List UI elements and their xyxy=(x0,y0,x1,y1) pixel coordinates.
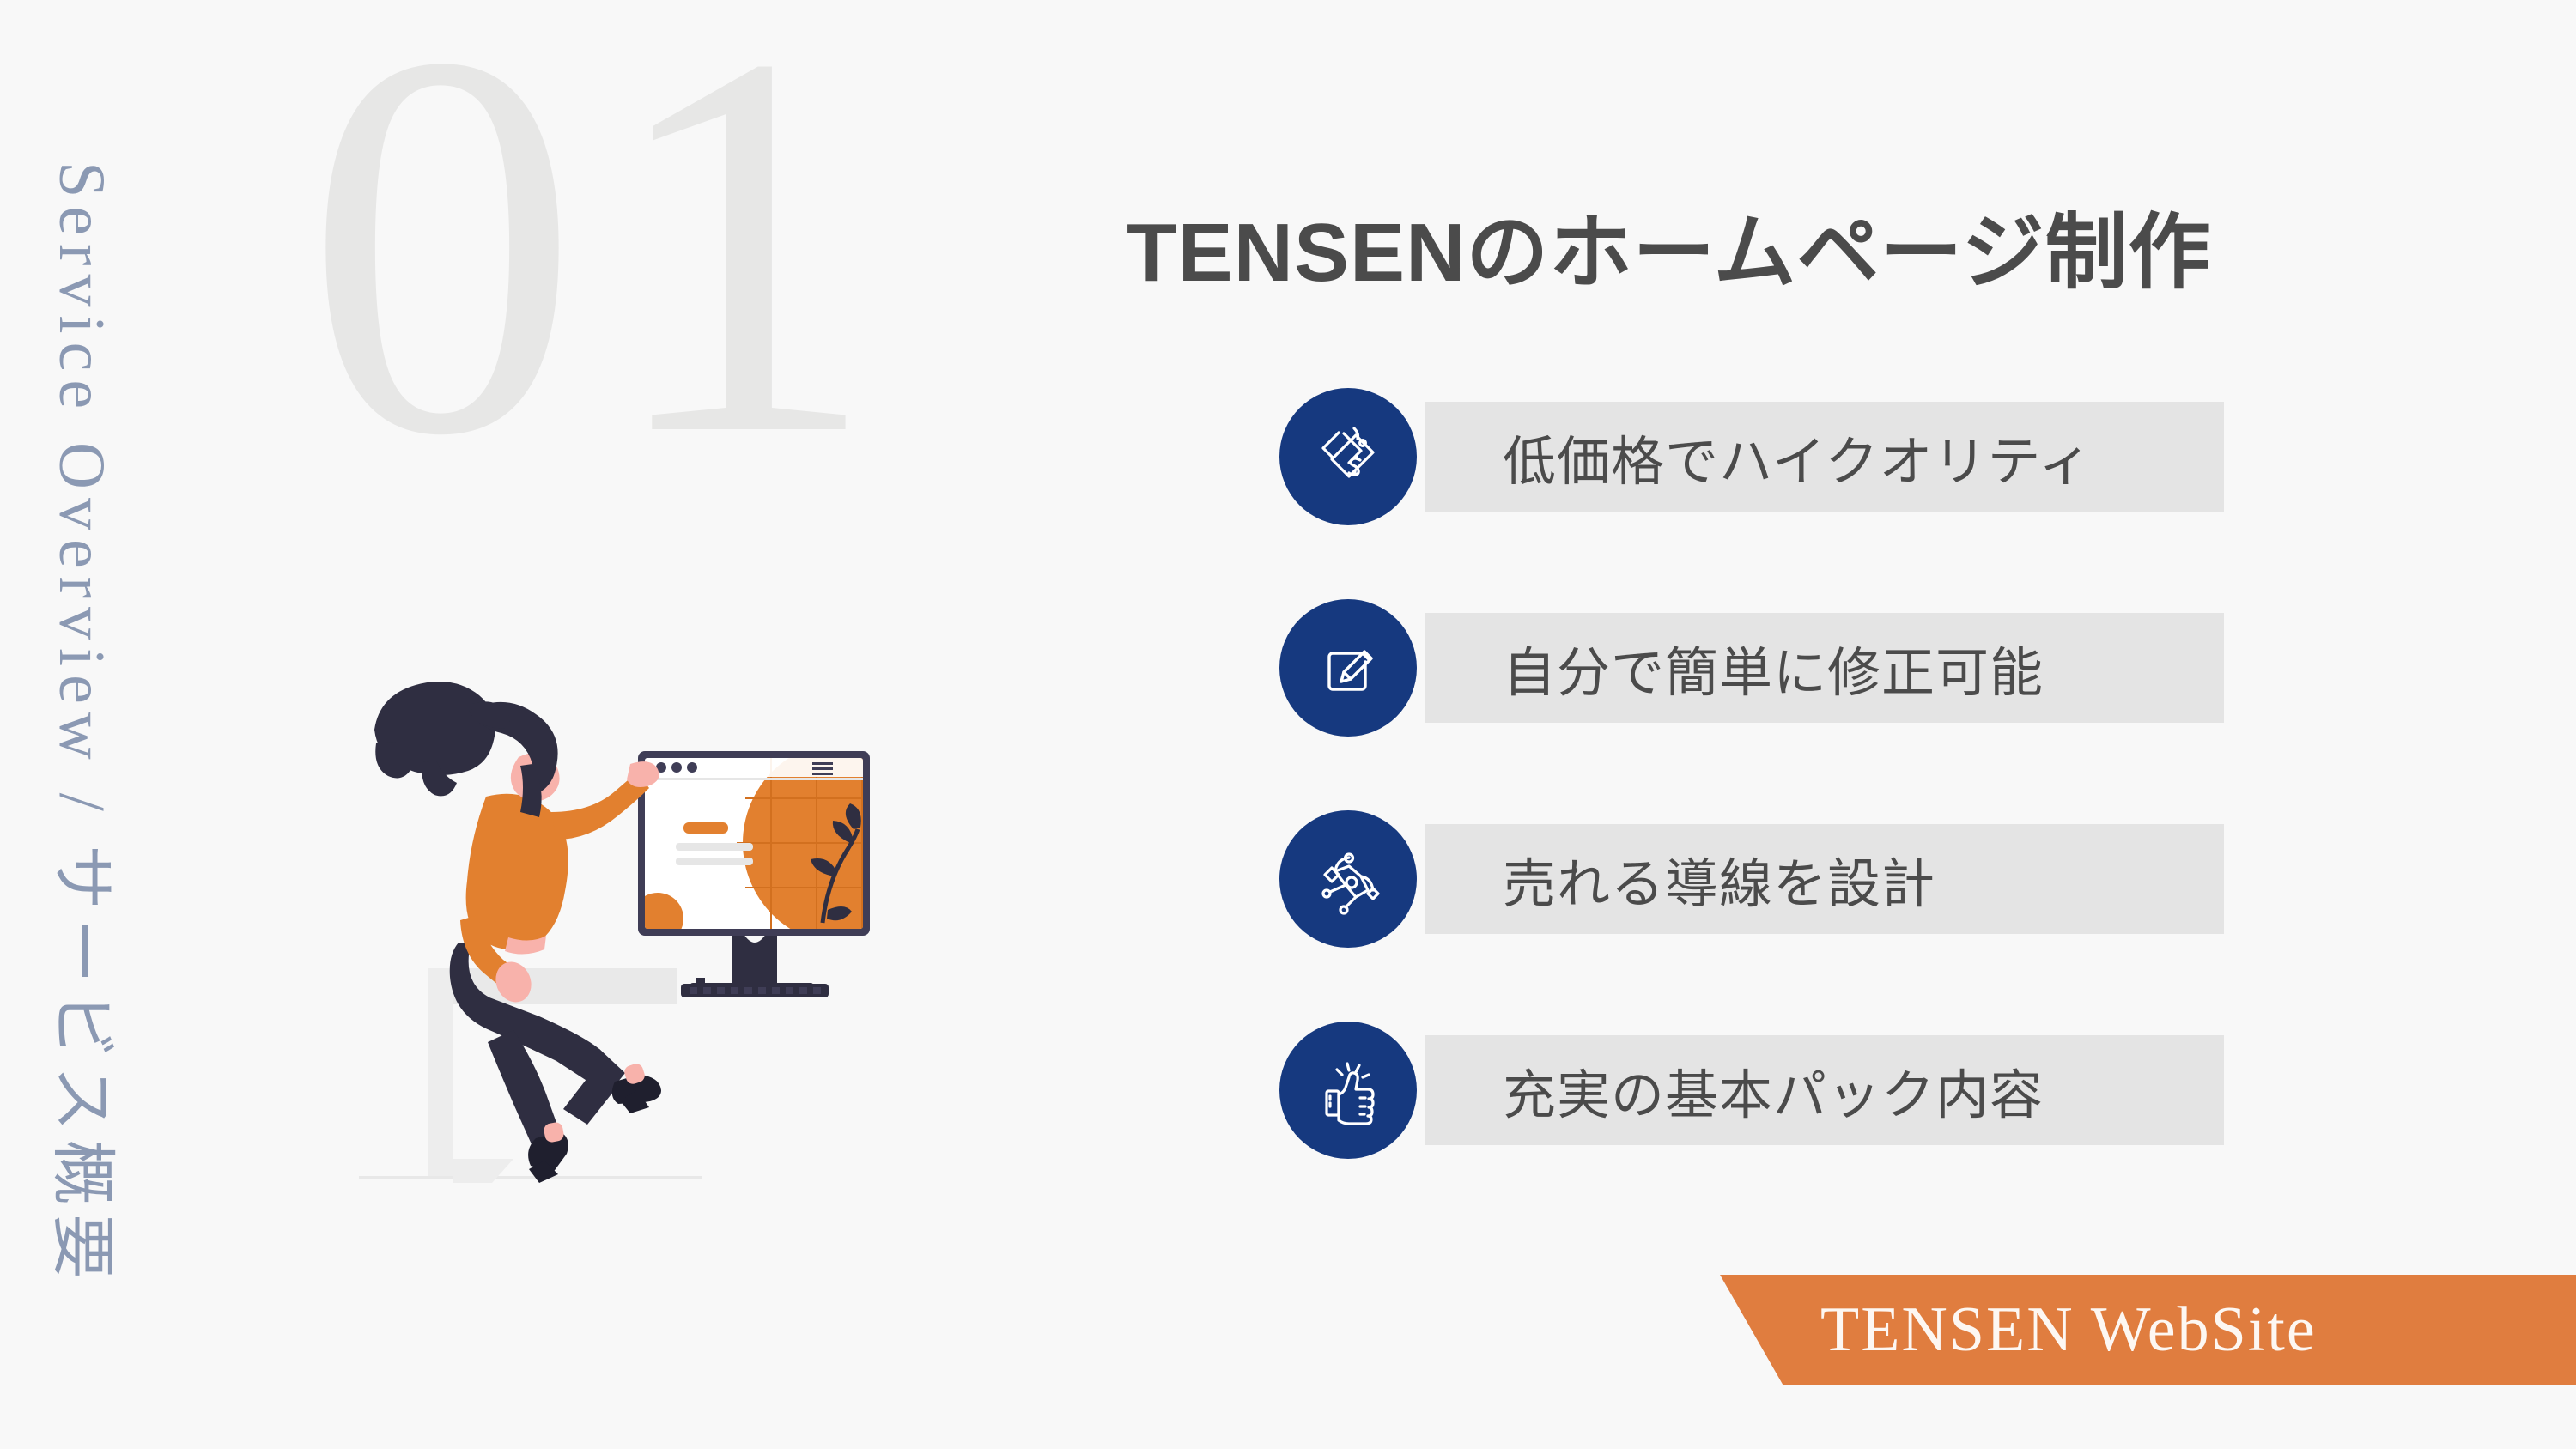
list-item[interactable]: 充実の基本パック内容 xyxy=(1279,1022,2224,1159)
thumbs-up-icon xyxy=(1279,1022,1417,1159)
list-item[interactable]: 自分で簡単に修正可能 xyxy=(1279,599,2224,737)
vertical-section-label: Service Overview / サービス概要 xyxy=(0,0,163,1449)
feature-bar: 充実の基本パック内容 xyxy=(1425,1035,2224,1145)
feature-bar: 低価格でハイクオリティ xyxy=(1425,402,2224,512)
list-item-label: 売れる導線を設計 xyxy=(1503,840,1935,918)
feature-list: 低価格でハイクオリティ 自分で簡単に修正可能 xyxy=(1279,388,2224,1159)
price-tag-dollar-icon xyxy=(1279,388,1417,525)
list-item[interactable]: 売れる導線を設計 xyxy=(1279,810,2224,948)
list-item-label: 低価格でハイクオリティ xyxy=(1503,418,2093,495)
page-title: TENSENのホームページ制作 xyxy=(1127,208,2212,299)
section-number: 01 xyxy=(305,0,902,519)
list-item-label: 充実の基本パック内容 xyxy=(1503,1052,2044,1129)
pen-tool-bezier-icon xyxy=(1279,810,1417,948)
list-item[interactable]: 低価格でハイクオリティ xyxy=(1279,388,2224,525)
edit-pencil-square-icon xyxy=(1279,599,1417,737)
footer-banner: TENSEN WebSite xyxy=(1679,1275,2576,1385)
vertical-section-label-text: Service Overview / サービス概要 xyxy=(49,161,114,1288)
footer-banner-label: TENSEN WebSite xyxy=(1820,1294,2317,1367)
list-item-label: 自分で簡単に修正可能 xyxy=(1503,629,2044,706)
feature-bar: 自分で簡単に修正可能 xyxy=(1425,613,2224,723)
woman-sitting-with-monitor-illustration xyxy=(342,661,960,1210)
slide-canvas: Service Overview / サービス概要 01 xyxy=(0,0,2576,1449)
feature-bar: 売れる導線を設計 xyxy=(1425,824,2224,934)
